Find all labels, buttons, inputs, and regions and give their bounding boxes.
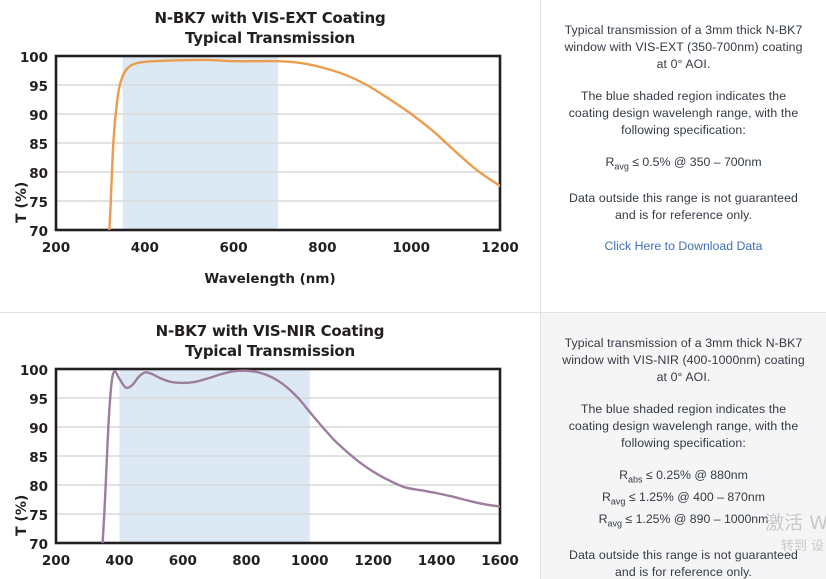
spec-text: ≤ 1.25% @ 400 – 870nm [625, 490, 765, 504]
plot-wrap-vis-ext: T (%) 7075808590951002004006008001000120… [0, 48, 540, 287]
x-tick-label: 1400 [418, 553, 456, 569]
spec-list-vis-ext: Ravg ≤ 0.5% @ 350 – 700nm [561, 154, 806, 176]
x-tick-label: 1600 [481, 553, 519, 569]
x-tick-label: 600 [169, 553, 197, 569]
spec-subscript: avg [607, 518, 622, 528]
shaded-note-vis-nir: The blue shaded region indicates the coa… [561, 401, 806, 452]
x-axis-label-vis-ext: Wavelength (nm) [0, 271, 540, 287]
x-tick-label: 800 [232, 553, 260, 569]
y-tick-label: 95 [29, 392, 48, 408]
y-tick-label: 90 [29, 108, 48, 124]
spec-symbol: R [602, 490, 611, 504]
chart-title-line2: Typical Transmission [0, 341, 540, 361]
y-tick-label: 90 [29, 421, 48, 437]
plot-wrap-vis-nir: T (%) 7075808590951002004006008001000120… [0, 361, 540, 576]
plot-svg-vis-nir: 7075808590951002004006008001000120014001… [0, 361, 541, 576]
y-tick-label: 70 [29, 224, 48, 240]
chart-cell-vis-nir: N-BK7 with VIS-NIR Coating Typical Trans… [0, 313, 541, 579]
y-axis-label-vis-nir: T (%) [14, 495, 30, 536]
spec-line: Ravg ≤ 1.25% @ 890 – 1000nm [561, 511, 806, 533]
chart-title-line1: N-BK7 with VIS-EXT Coating [154, 9, 385, 27]
y-tick-label: 70 [29, 537, 48, 553]
spec-subscript: avg [614, 161, 629, 171]
spec-subscript: abs [628, 474, 643, 484]
chart-cell-vis-ext: N-BK7 with VIS-EXT Coating Typical Trans… [0, 0, 541, 312]
y-tick-label: 85 [29, 137, 48, 153]
y-tick-label: 85 [29, 450, 48, 466]
plot-svg-vis-ext: 70758085909510020040060080010001200 [0, 48, 541, 263]
info-cell-vis-nir: Typical transmission of a 3mm thick N-BK… [541, 313, 826, 579]
spec-text: ≤ 0.25% @ 880nm [643, 468, 748, 482]
download-data-link-vis-ext[interactable]: Click Here to Download Data [561, 239, 806, 253]
description-vis-ext: Typical transmission of a 3mm thick N-BK… [561, 22, 806, 73]
y-tick-label: 75 [29, 195, 48, 211]
chart-title-line2: Typical Transmission [0, 28, 540, 48]
chart-title-vis-ext: N-BK7 with VIS-EXT Coating Typical Trans… [0, 0, 540, 48]
x-tick-label: 200 [42, 553, 70, 569]
x-tick-label: 1200 [354, 553, 392, 569]
shaded-note-vis-ext: The blue shaded region indicates the coa… [561, 88, 806, 139]
x-tick-label: 1200 [481, 240, 519, 256]
x-tick-label: 800 [308, 240, 336, 256]
y-tick-label: 80 [29, 166, 48, 182]
chart-title-vis-nir: N-BK7 with VIS-NIR Coating Typical Trans… [0, 313, 540, 361]
y-tick-label: 80 [29, 479, 48, 495]
x-tick-label: 400 [131, 240, 159, 256]
y-tick-label: 100 [20, 363, 48, 379]
spec-line: Ravg ≤ 0.5% @ 350 – 700nm [561, 154, 806, 176]
info-cell-vis-ext: Typical transmission of a 3mm thick N-BK… [541, 0, 826, 312]
y-tick-label: 95 [29, 79, 48, 95]
x-tick-label: 1000 [392, 240, 430, 256]
spec-text: ≤ 0.5% @ 350 – 700nm [629, 155, 762, 169]
panel-row-vis-nir: N-BK7 with VIS-NIR Coating Typical Trans… [0, 312, 826, 579]
disclaimer-vis-nir: Data outside this range is not guarantee… [561, 547, 806, 579]
spec-line: Rabs ≤ 0.25% @ 880nm [561, 467, 806, 489]
spec-list-vis-nir: Rabs ≤ 0.25% @ 880nmRavg ≤ 1.25% @ 400 –… [561, 467, 806, 533]
spec-subscript: avg [611, 496, 626, 506]
spec-symbol: R [605, 155, 614, 169]
chart-title-line1: N-BK7 with VIS-NIR Coating [156, 322, 385, 340]
panel-row-vis-ext: N-BK7 with VIS-EXT Coating Typical Trans… [0, 0, 826, 312]
y-tick-label: 100 [20, 50, 48, 66]
y-axis-label-vis-ext: T (%) [14, 182, 30, 223]
x-tick-label: 200 [42, 240, 70, 256]
spec-line: Ravg ≤ 1.25% @ 400 – 870nm [561, 489, 806, 511]
y-tick-label: 75 [29, 508, 48, 524]
transmission-charts-page: N-BK7 with VIS-EXT Coating Typical Trans… [0, 0, 826, 579]
x-tick-label: 400 [105, 553, 133, 569]
x-tick-label: 600 [220, 240, 248, 256]
spec-symbol: R [619, 468, 628, 482]
x-tick-label: 1000 [291, 553, 329, 569]
disclaimer-vis-ext: Data outside this range is not guarantee… [561, 190, 806, 224]
description-vis-nir: Typical transmission of a 3mm thick N-BK… [561, 335, 806, 386]
spec-text: ≤ 1.25% @ 890 – 1000nm [622, 512, 768, 526]
